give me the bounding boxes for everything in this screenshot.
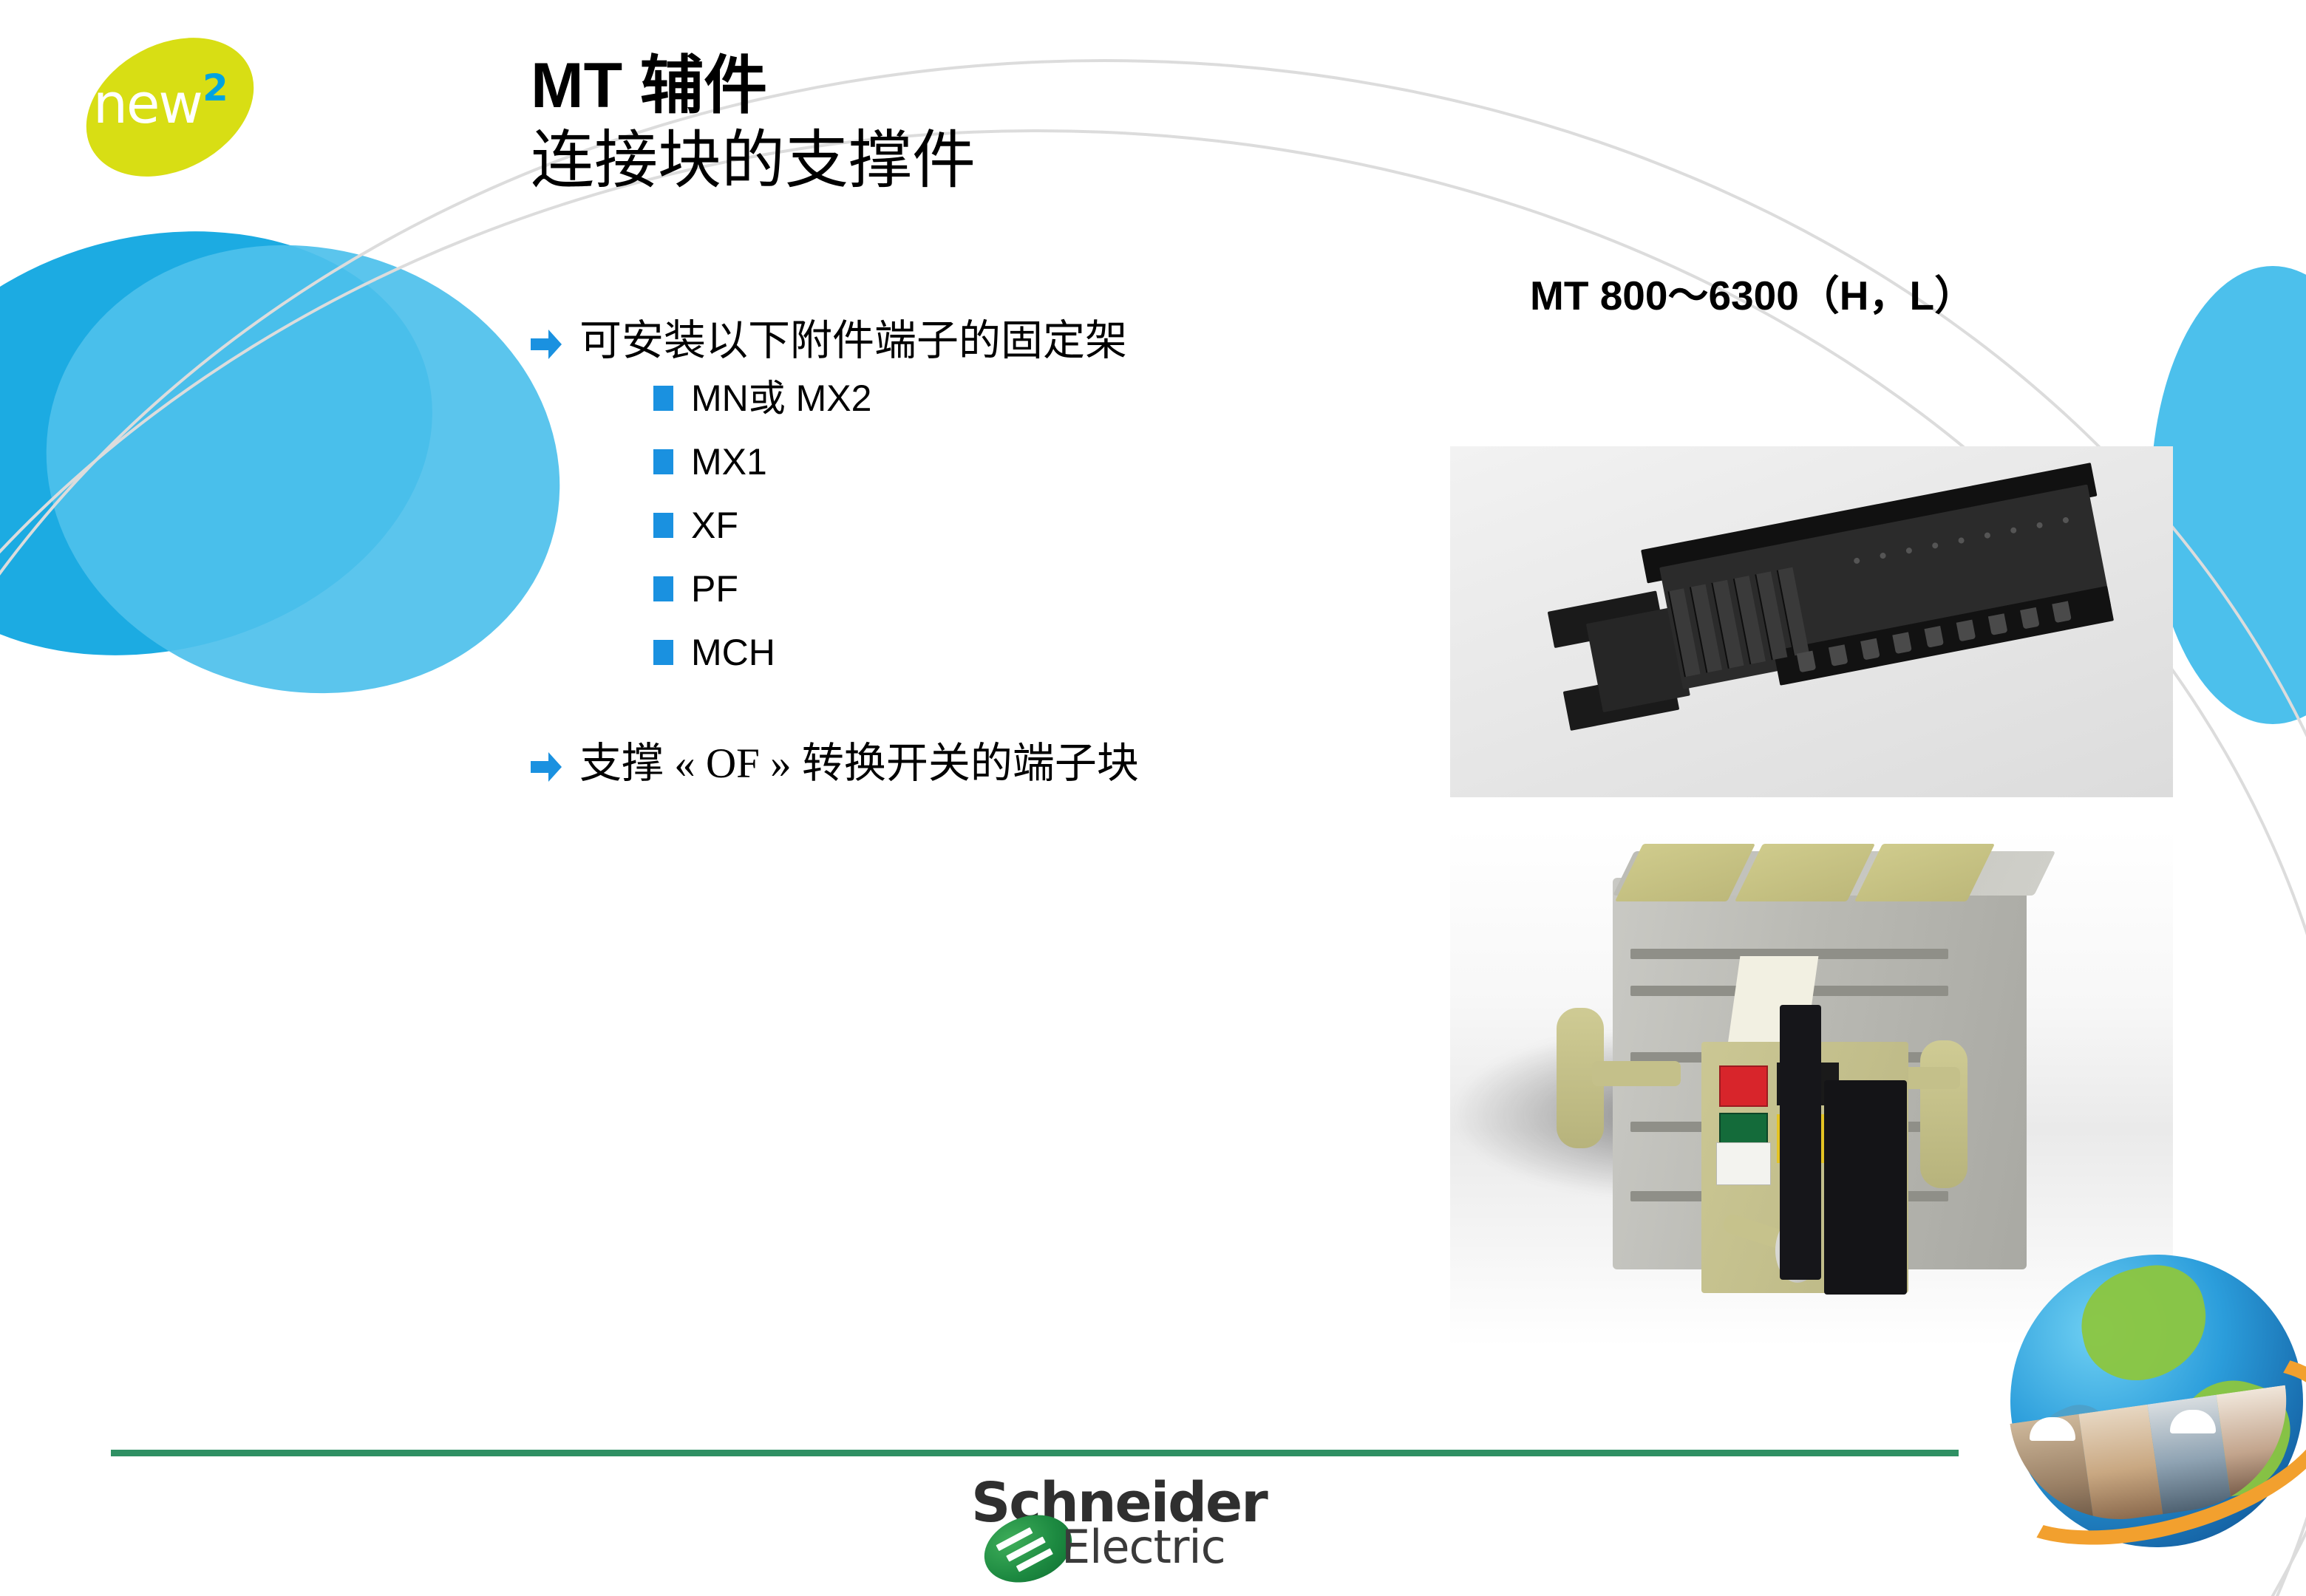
breaker-green-button — [1719, 1113, 1768, 1144]
new2-badge-label: new — [93, 77, 256, 132]
support-rail-illustration — [1531, 458, 2123, 776]
arrow-right-icon — [529, 325, 563, 364]
logo-word-electric: Electric — [1061, 1520, 1225, 1574]
list-item-label: MX1 — [691, 440, 767, 484]
decorative-blue-ellipse-left-dark — [0, 174, 477, 712]
product-photo-support-rail — [1450, 446, 2173, 797]
list-item: MCH — [653, 630, 1438, 675]
new2-badge-superscript: 2 — [203, 66, 228, 109]
list-item-label: XF — [691, 503, 738, 548]
title-line-1: MT 辅件 — [531, 52, 1565, 120]
decorative-blue-ellipse-left-light — [0, 191, 608, 747]
breaker-lever — [1780, 1005, 1821, 1280]
list-item-label: MN或 MX2 — [691, 376, 871, 420]
page-title: MT 辅件 连接块的支撑件 — [531, 52, 1565, 196]
globe-people-graphic — [1996, 1219, 2306, 1596]
bullet-level1-2-label: 支撑 « OF » 转换开关的端子块 — [579, 739, 1139, 788]
list-item: XF — [653, 503, 1438, 548]
square-bullet-icon — [653, 640, 673, 665]
square-bullet-icon — [653, 576, 673, 601]
breaker-handle-right — [1920, 1040, 1967, 1188]
square-bullet-icon — [653, 449, 673, 474]
body-content: 可安装以下附件端子的固定架 MN或 MX2 MX1 XF PF MCH — [529, 316, 1438, 694]
breaker-lever-block — [1824, 1080, 1907, 1295]
breaker-white-label — [1716, 1142, 1771, 1185]
breaker-pole-terminals — [1629, 844, 2043, 915]
sub-bullet-list: MN或 MX2 MX1 XF PF MCH — [653, 376, 1438, 675]
arrow-right-icon — [529, 748, 563, 786]
list-item: PF — [653, 567, 1438, 611]
breaker-red-button — [1719, 1065, 1768, 1107]
slide-canvas: new 2 MT 辅件 连接块的支撑件 可安装以下附件端子的固定架 MN或 MX… — [0, 0, 2306, 1596]
list-item: MX1 — [653, 440, 1438, 484]
title-line-2: 连接块的支撑件 — [531, 125, 1565, 196]
footer-divider — [111, 1450, 1959, 1456]
bullet-level1-2: 支撑 « OF » 转换开关的端子块 — [529, 739, 1139, 788]
new2-badge: new 2 — [81, 44, 259, 170]
schneider-electric-logo: Schneider Electric — [953, 1474, 1234, 1574]
list-item-label: MCH — [691, 630, 775, 675]
breaker-arm-left — [1592, 1061, 1681, 1086]
list-item-label: PF — [691, 567, 738, 611]
bullet-level1-1-label: 可安装以下附件端子的固定架 — [579, 316, 1127, 366]
list-item: MN或 MX2 — [653, 376, 1438, 420]
square-bullet-icon — [653, 513, 673, 538]
bullet-level1-1: 可安装以下附件端子的固定架 — [529, 316, 1438, 366]
decorative-blue-ellipse-right — [2151, 266, 2306, 724]
product-range-caption: MT 800～6300（H，L） — [1530, 262, 2136, 321]
square-bullet-icon — [653, 386, 673, 411]
